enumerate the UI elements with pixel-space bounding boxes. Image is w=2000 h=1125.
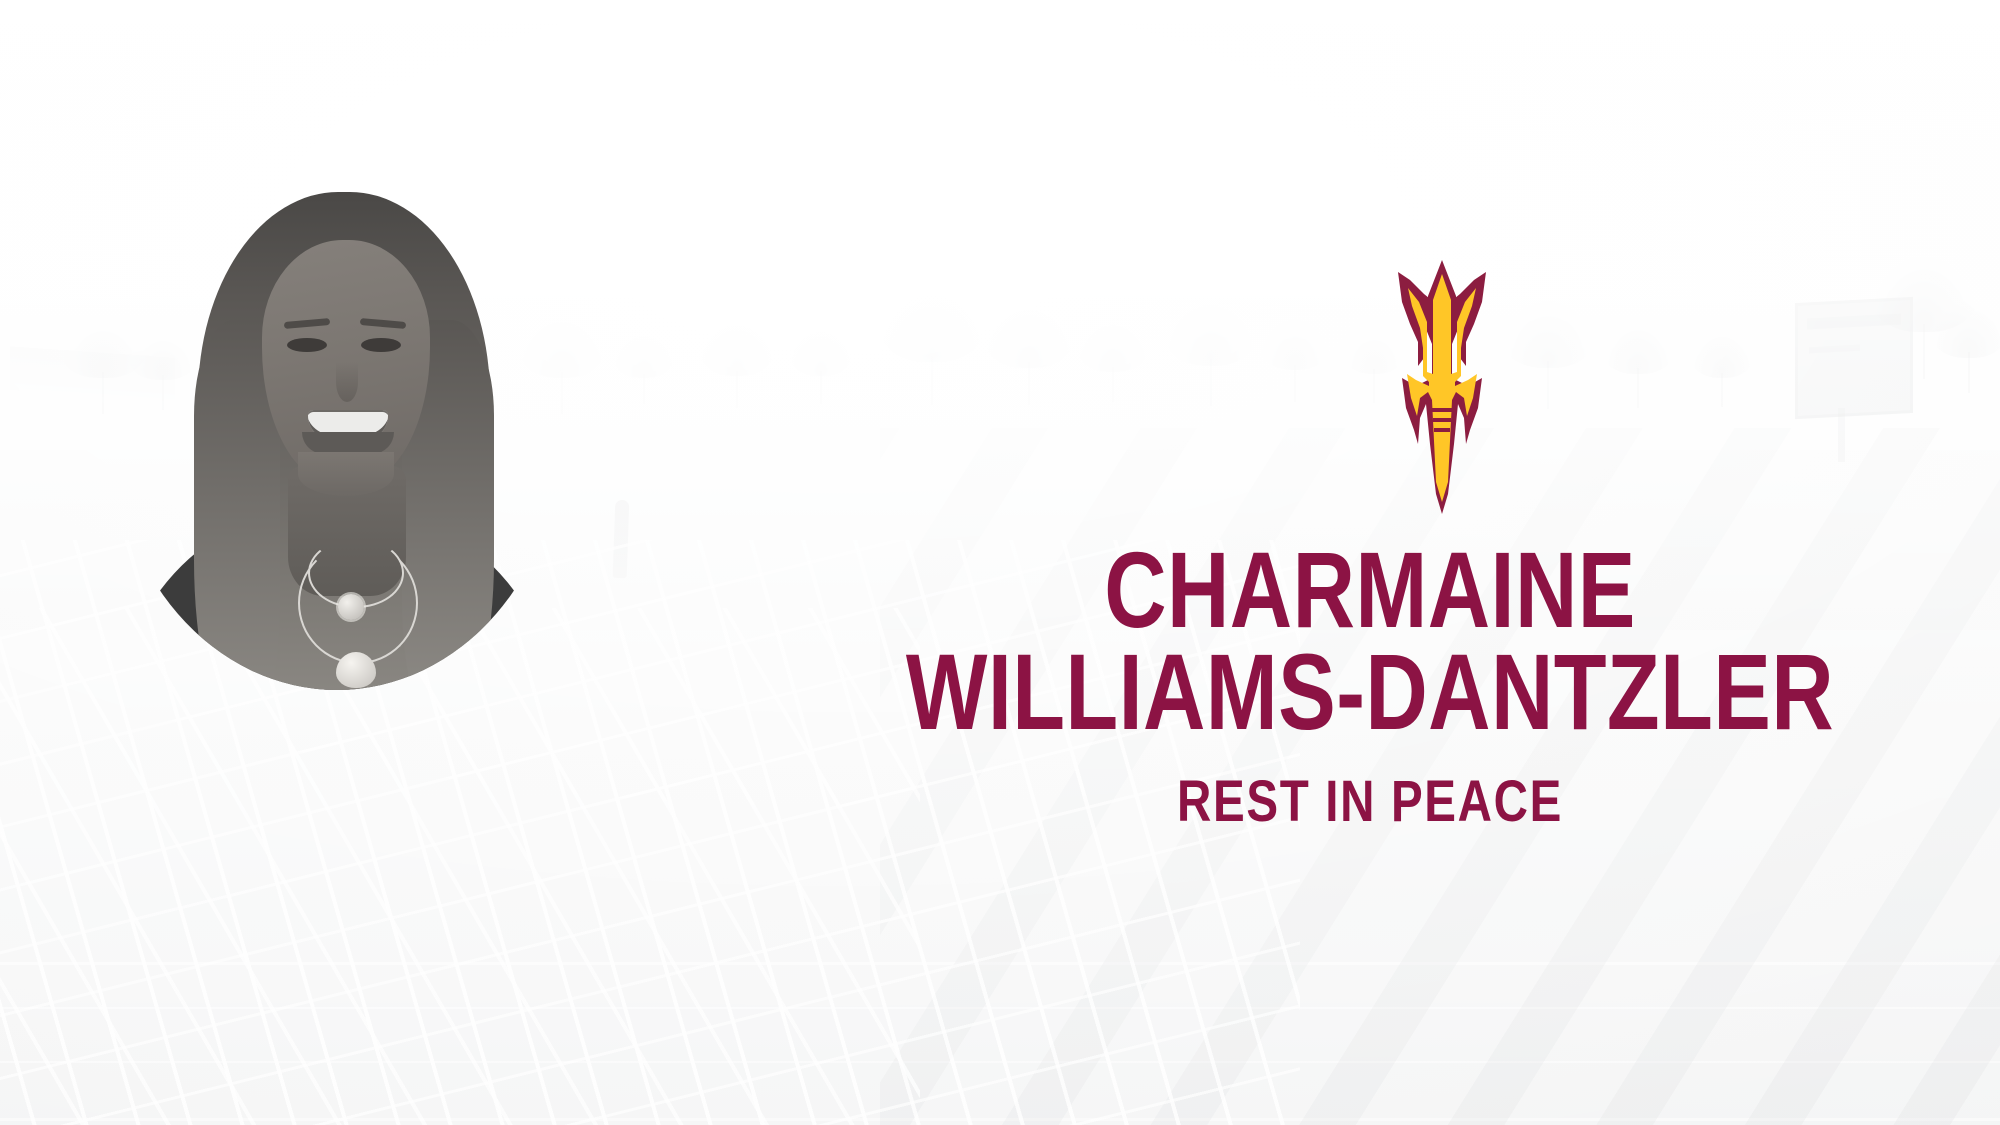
honoree-name-line-1: CHARMAINE [898,540,1842,640]
pendant-heart [336,652,376,688]
lower-lip [302,432,394,454]
tribute-text-block: CHARMAINE WILLIAMS-DANTZLER REST IN PEAC… [780,540,1960,831]
eye-right [361,338,401,352]
rest-in-peace-label: REST IN PEACE [886,773,1854,831]
honoree-name-line-2: WILLIAMS-DANTZLER [898,642,1842,742]
eye-left [287,338,327,352]
chin [298,452,394,496]
portrait-cutout [112,170,562,690]
memorial-graphic: CHARMAINE WILLIAMS-DANTZLER REST IN PEAC… [0,0,2000,1125]
pendant-round [338,594,364,620]
portrait-clip [112,170,562,690]
nose [336,362,358,402]
asu-pitchfork-icon [1382,258,1502,516]
